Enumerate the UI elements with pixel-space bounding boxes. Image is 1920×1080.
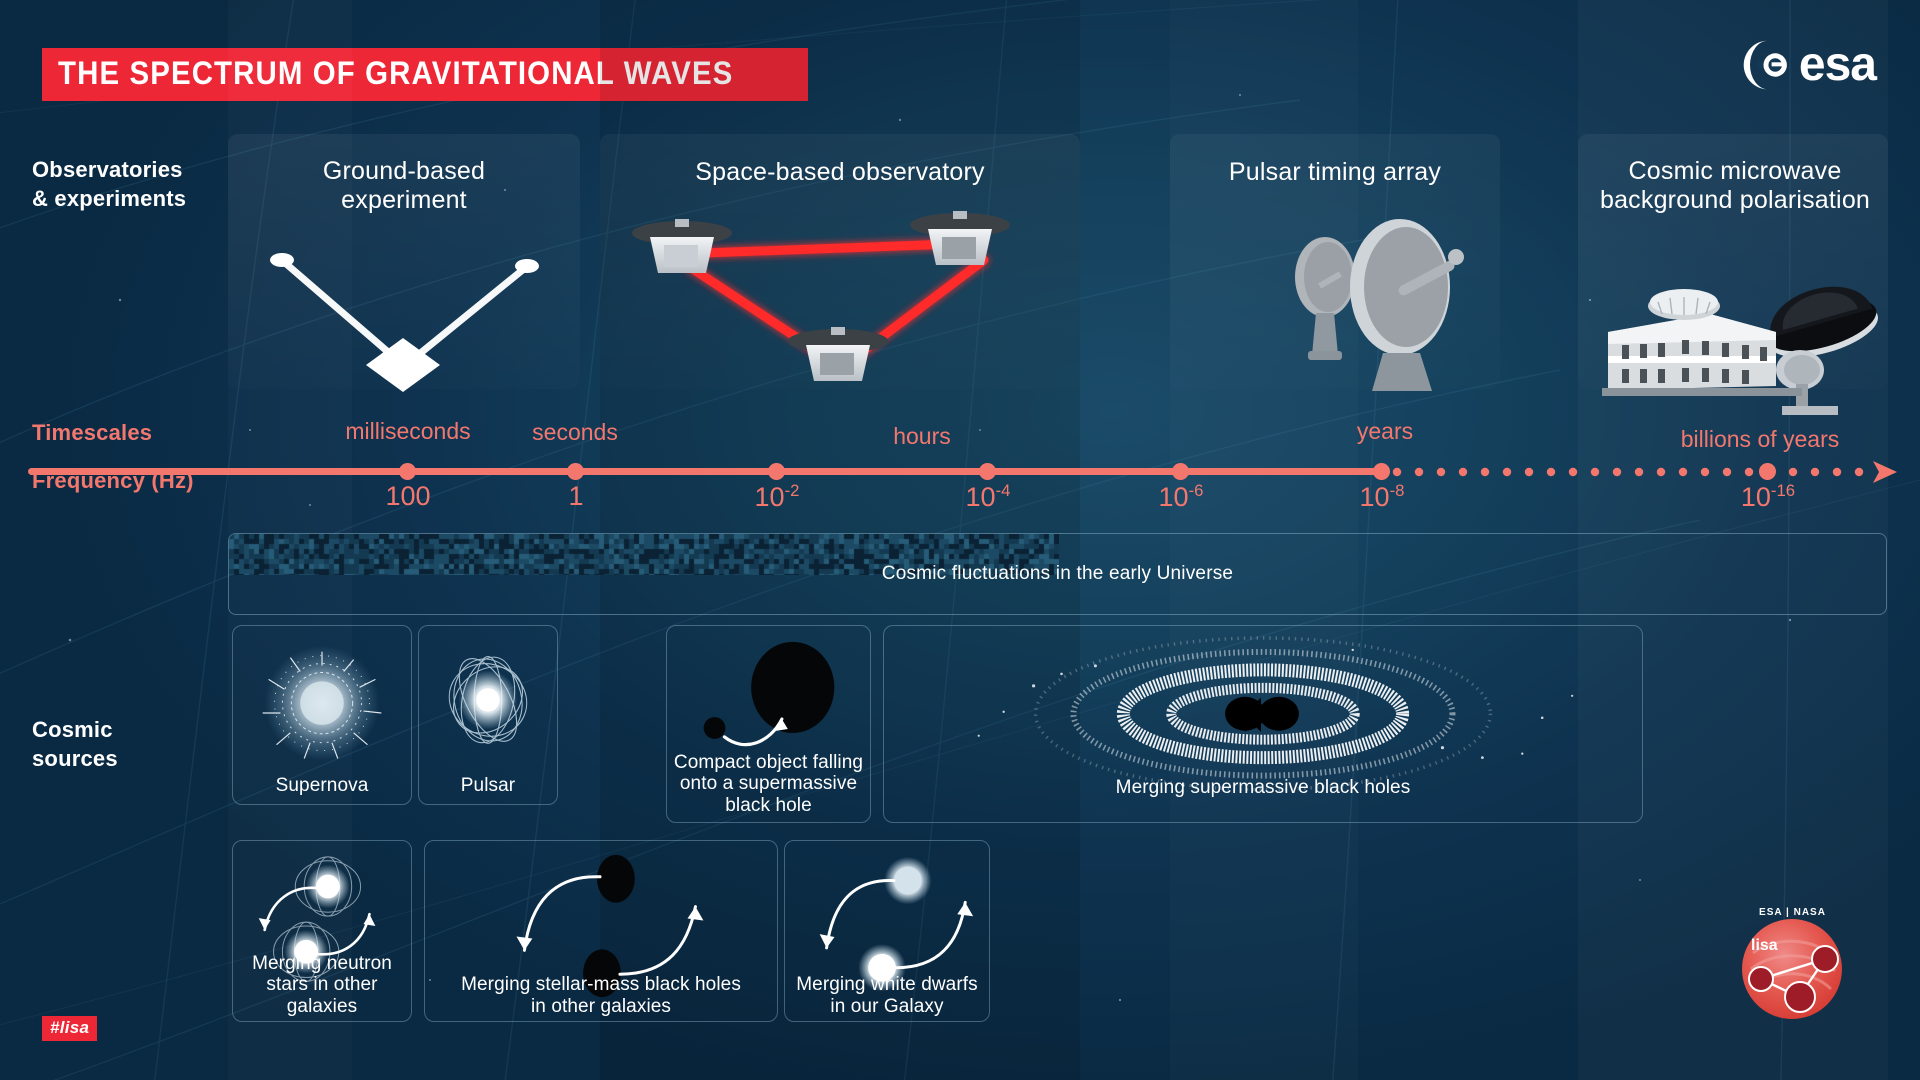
timeline-tick-dot-1 (567, 463, 584, 480)
observatory-title-line2: experiment (228, 186, 580, 215)
timeline-tick-dot-1e-2 (768, 463, 785, 480)
hashtag-lisa: #lisa (42, 1016, 97, 1041)
cmb-telescope-station-icon (1590, 240, 1890, 415)
radio-telescope-dishes-icon (1280, 215, 1510, 395)
infographic-canvas: THE SPECTRUM OF GRAVITATIONAL WAVES esa … (0, 0, 1920, 1080)
observatory-title-line2: background polarisation (1570, 186, 1900, 215)
row-label-cosmic-sources: Cosmic sources (32, 715, 118, 773)
timeline-tick-dot-1e-6 (1172, 463, 1189, 480)
frequency-label-1: 1 (476, 481, 676, 512)
observatory-title-line1: Cosmic microwave (1570, 157, 1900, 186)
source-card-supernova[interactable]: Supernova (232, 625, 412, 805)
source-caption-merging-stellar-black-holes: Merging stellar-mass black holes in othe… (425, 974, 777, 1017)
frequency-label-1e-2: 10-2 (677, 481, 877, 513)
observatory-title-pulsar-timing: Pulsar timing array (1170, 158, 1500, 187)
source-card-merging-stellar-black-holes[interactable]: Merging stellar-mass black holes in othe… (424, 840, 778, 1022)
cosmic-fluctuations-band: Cosmic fluctuations in the early Univers… (228, 533, 1887, 615)
observatory-title-cmb: Cosmic microwave background polarisation (1570, 157, 1900, 215)
row-label-observatories: Observatories & experiments (32, 155, 186, 213)
source-card-merging-neutron-stars[interactable]: Merging neutron stars in other galaxies (232, 840, 412, 1022)
source-caption-pulsar: Pulsar (419, 775, 557, 796)
observatory-title-line1: Ground-based (228, 157, 580, 186)
lisa-triangle-constellation-icon (612, 205, 1062, 395)
cosmic-fluctuations-label: Cosmic fluctuations in the early Univers… (229, 534, 1886, 614)
timeline-tick-dot-1e-4 (979, 463, 996, 480)
row-label-cosmic-sources-line2: sources (32, 744, 118, 773)
row-label-observatories-line1: Observatories (32, 155, 186, 184)
timeline-tick-dot-1e-16 (1759, 463, 1776, 480)
timescale-label-hours: hours (837, 423, 1007, 450)
source-caption-supernova: Supernova (233, 775, 411, 796)
frequency-label-1e-8: 10-8 (1282, 481, 1482, 513)
source-card-pulsar[interactable]: Pulsar (418, 625, 558, 805)
lisa-logo-name: lisa (1751, 937, 1778, 955)
source-caption-merging-neutron-stars: Merging neutron stars in other galaxies (233, 953, 411, 1017)
source-caption-merging-supermassive-black-holes: Merging supermassive black holes (884, 777, 1642, 798)
timescale-label-billions-of-years: billions of years (1580, 426, 1920, 453)
source-caption-compact-object-infall: Compact object falling onto a supermassi… (667, 752, 870, 816)
timescale-label-years: years (1295, 418, 1475, 445)
row-label-timescales: Timescales (32, 418, 152, 447)
timescale-label-seconds: seconds (475, 419, 675, 446)
source-card-compact-object-infall[interactable]: Compact object falling onto a supermassi… (666, 625, 871, 823)
observatory-title-line1: Space-based observatory (600, 158, 1080, 187)
source-caption-merging-white-dwarfs: Merging white dwarfs in our Galaxy (785, 974, 989, 1017)
lisa-mission-logo: ESA | NASA lisa (1725, 893, 1860, 1028)
observatory-title-ground-based: Ground-based experiment (228, 157, 580, 215)
l-shaped-interferometer-icon (240, 240, 570, 400)
row-label-cosmic-sources-line1: Cosmic (32, 715, 118, 744)
source-card-merging-supermassive-black-holes[interactable]: Merging supermassive black holes (883, 625, 1643, 823)
observatory-title-space-based: Space-based observatory (600, 158, 1080, 187)
observatory-title-line1: Pulsar timing array (1170, 158, 1500, 187)
timeline-tick-dot-100 (399, 463, 416, 480)
source-card-merging-white-dwarfs[interactable]: Merging white dwarfs in our Galaxy (784, 840, 990, 1022)
timeline-tick-dot-1e-8 (1373, 463, 1390, 480)
row-label-observatories-line2: & experiments (32, 184, 186, 213)
lisa-logo-partners: ESA | NASA (1725, 907, 1860, 918)
frequency-label-1e-4: 10-4 (888, 481, 1088, 513)
frequency-label-1e-16: 10-16 (1668, 481, 1868, 513)
frequency-label-1e-6: 10-6 (1081, 481, 1281, 513)
